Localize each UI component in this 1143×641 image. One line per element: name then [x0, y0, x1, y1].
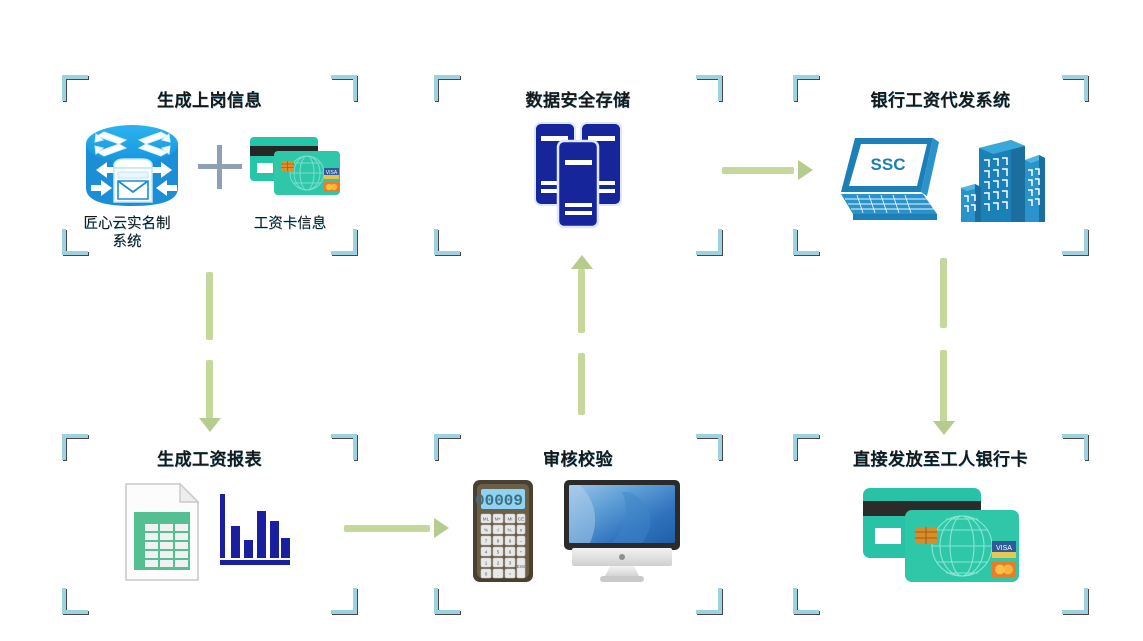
arrow-report-to-audit	[344, 518, 454, 538]
svg-text:4: 4	[485, 550, 488, 555]
arrow-head	[434, 518, 449, 538]
cell-generate-onboarding-info: 生成上岗信息	[62, 75, 357, 255]
svg-text:VISA: VISA	[996, 545, 1012, 552]
svg-text:3: 3	[509, 561, 512, 566]
bracket-bottom-left	[434, 588, 460, 614]
arrow-shaft-upper	[578, 269, 585, 333]
svg-text:8: 8	[497, 539, 500, 544]
arrow-bank-to-payout	[933, 258, 955, 440]
svg-text:=: =	[509, 572, 512, 577]
arrow-head	[199, 418, 221, 432]
cell-art-generate-payroll-report	[62, 479, 357, 584]
cell-title-generate-onboarding-info: 生成上岗信息	[62, 86, 357, 111]
cell-secure-data-storage: 数据安全存储	[434, 75, 722, 255]
cell-title-secure-data-storage: 数据安全存储	[434, 86, 722, 111]
svg-text:Entr: Entr	[517, 564, 526, 569]
svg-text:VISA: VISA	[325, 170, 337, 176]
cell-art-generate-onboarding-info: VISA	[62, 117, 357, 217]
salary-card-icon: VISA	[248, 133, 344, 201]
arrow-shaft-lower	[940, 350, 947, 422]
bracket-bottom-right	[1062, 588, 1088, 614]
bracket-bottom-left	[793, 588, 819, 614]
cell-title-generate-payroll-report: 生成工资报表	[62, 445, 357, 470]
cell-direct-payout-to-worker-card: 直接发放至工人银行卡	[793, 434, 1088, 614]
server-rack-icon	[531, 119, 625, 231]
svg-text:6: 6	[509, 550, 512, 555]
cell-generate-payroll-report: 生成工资报表	[62, 434, 357, 614]
bracket-bottom-right	[331, 588, 357, 614]
bank-cards-icon: VISA	[861, 484, 1021, 584]
spreadsheet-document-icon	[124, 482, 200, 582]
arrow-shaft	[344, 525, 430, 532]
cell-title-audit-verification: 审核校验	[434, 445, 722, 470]
laptop-ssc-icon: SSC	[833, 130, 945, 228]
sub-label-realname-system: 匠心云实名制 系统	[68, 215, 186, 251]
svg-text:.: .	[497, 572, 498, 577]
arrow-shaft-lower	[578, 353, 585, 415]
arrow-head	[933, 421, 955, 435]
svg-text:0: 0	[485, 572, 488, 577]
bar-chart-icon	[216, 491, 296, 573]
arrow-onboarding-to-report	[199, 272, 221, 437]
office-buildings-icon	[957, 130, 1049, 228]
diagram-canvas: 生成上岗信息	[0, 0, 1143, 641]
arrow-shaft	[722, 167, 794, 174]
svg-text:M+: M+	[495, 517, 502, 522]
arrow-shaft-lower	[206, 360, 213, 419]
desktop-monitor-icon	[560, 478, 684, 584]
calculator-icon: 00009	[472, 479, 534, 583]
svg-text:5: 5	[497, 550, 500, 555]
laptop-screen-text: SSC	[870, 155, 905, 174]
svg-text:ML: ML	[483, 517, 490, 522]
cell-art-direct-payout-to-worker-card: VISA	[793, 484, 1088, 584]
arrow-shaft-upper	[206, 272, 213, 340]
calculator-display-value: 00009	[475, 492, 523, 510]
realname-system-database-icon	[76, 118, 192, 216]
arrow-storage-to-bank	[722, 160, 818, 180]
arrow-head	[798, 160, 813, 180]
cell-art-audit-verification: 00009	[434, 476, 722, 586]
svg-text:2: 2	[497, 561, 500, 566]
bracket-bottom-right	[696, 229, 722, 255]
cell-art-secure-data-storage	[434, 119, 722, 231]
svg-text:7: 7	[485, 539, 488, 544]
sub-label-salary-card: 工资卡信息	[230, 215, 350, 233]
cell-art-bank-payroll-system: SSC	[793, 123, 1088, 235]
cell-bank-payroll-system: 银行工资代发系统 SSC	[793, 75, 1088, 255]
arrow-shaft-upper	[940, 258, 947, 328]
cell-audit-verification: 审核校验 00009	[434, 434, 722, 614]
arrow-audit-to-storage	[571, 255, 593, 437]
cell-title-bank-payroll-system: 银行工资代发系统	[793, 86, 1088, 111]
svg-text:%.: %.	[507, 528, 512, 533]
bracket-bottom-right	[696, 588, 722, 614]
bracket-bottom-left	[434, 229, 460, 255]
arrow-head	[571, 255, 593, 269]
svg-text:–: –	[520, 539, 523, 544]
svg-text:MI: MI	[507, 517, 512, 522]
bracket-bottom-left	[62, 588, 88, 614]
cell-title-direct-payout-to-worker-card: 直接发放至工人银行卡	[793, 445, 1088, 470]
svg-text:CE: CE	[518, 517, 524, 522]
svg-text:9: 9	[509, 539, 512, 544]
svg-text:%: %	[484, 528, 488, 533]
plus-sign-icon	[198, 145, 242, 189]
svg-text:1: 1	[485, 561, 488, 566]
